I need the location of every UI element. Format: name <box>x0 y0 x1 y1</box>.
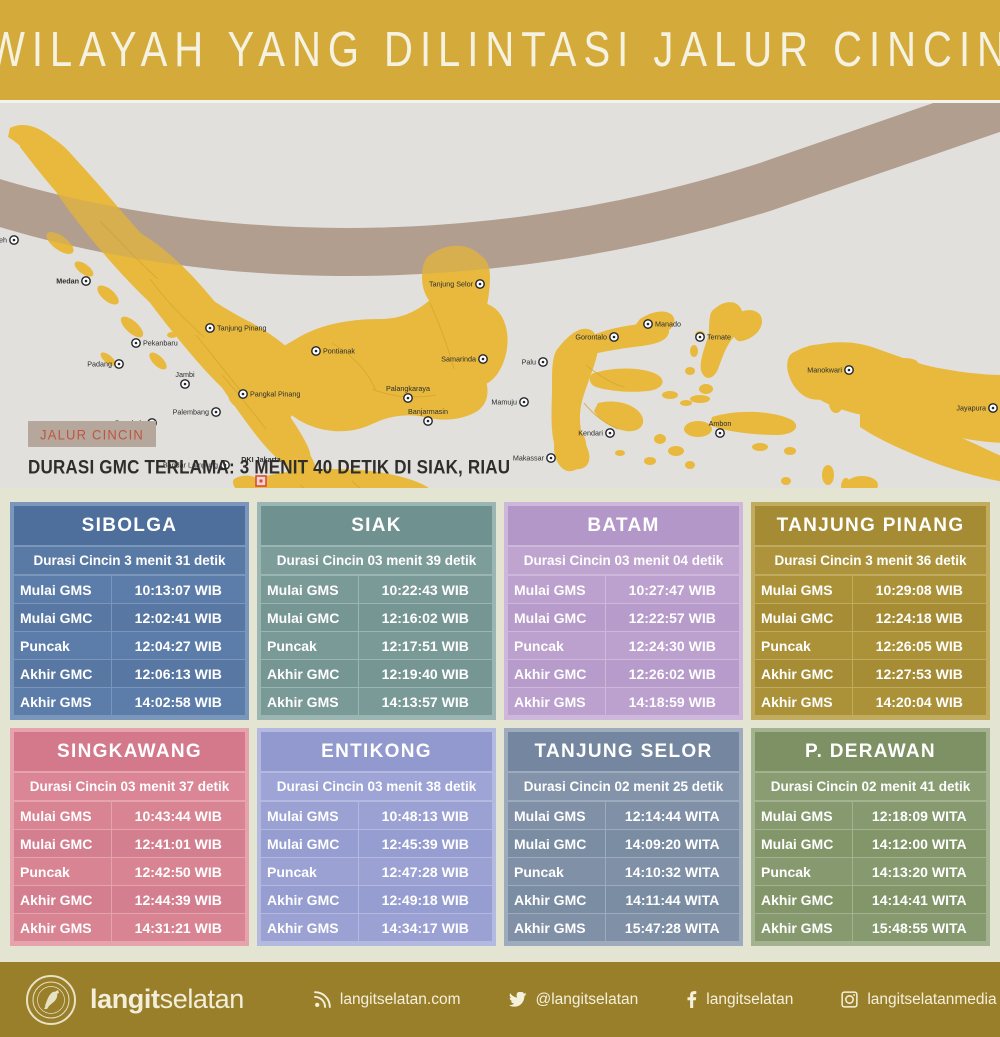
card-row-bottom: SINGKAWANGDurasi Cincin 03 menit 37 deti… <box>10 728 990 946</box>
page-title: WILAYAH YANG DILINTASI JALUR CINCIN <box>0 23 1000 78</box>
card-times-table: Mulai GMS12:18:09 WITAMulai GMC14:12:00 … <box>755 802 986 942</box>
card-title: TANJUNG PINANG <box>755 506 986 545</box>
table-row: Akhir GMC14:11:44 WITA <box>508 886 739 914</box>
row-label: Mulai GMC <box>755 830 852 858</box>
table-row: Akhir GMC12:49:18 WIB <box>261 886 492 914</box>
time-card[interactable]: P. DERAWANDurasi Cincin 02 menit 41 deti… <box>751 728 990 946</box>
city-label: Palangkaraya <box>386 384 430 393</box>
table-row: Mulai GMC12:24:18 WIB <box>755 604 986 632</box>
card-duration: Durasi Cincin 03 menit 37 detik <box>14 773 245 800</box>
table-row: Akhir GMC12:27:53 WIB <box>755 660 986 688</box>
row-value: 12:18:09 WITA <box>852 802 986 830</box>
row-label: Akhir GMS <box>755 688 852 716</box>
page-header: WILAYAH YANG DILINTASI JALUR CINCIN <box>0 0 1000 100</box>
city-label: Pangkal Pinang <box>250 390 300 399</box>
city-marker: Mamuju <box>491 398 528 407</box>
city-marker: Jayapura <box>956 404 997 413</box>
city-marker: Padang <box>87 360 123 369</box>
card-times-table: Mulai GMS10:27:47 WIBMulai GMC12:22:57 W… <box>508 576 739 716</box>
city-label: Medan <box>56 277 79 286</box>
card-duration: Durasi Cincin 02 menit 25 detik <box>508 773 739 800</box>
row-value: 10:22:43 WIB <box>358 576 492 604</box>
row-label: Puncak <box>261 858 358 886</box>
row-value: 12:41:01 WIB <box>111 830 245 858</box>
card-title: SIBOLGA <box>14 506 245 545</box>
card-title: SIAK <box>261 506 492 545</box>
table-row: Akhir GMC12:26:02 WIB <box>508 660 739 688</box>
eclipse-band-overlay <box>0 103 1000 276</box>
table-row: Puncak12:17:51 WIB <box>261 632 492 660</box>
row-label: Mulai GMC <box>14 604 111 632</box>
table-row: Akhir GMS14:34:17 WIB <box>261 914 492 942</box>
row-label: Mulai GMC <box>261 830 358 858</box>
city-label: Samarinda <box>441 355 476 364</box>
row-label: Puncak <box>755 632 852 660</box>
row-label: Akhir GMS <box>261 914 358 942</box>
row-value: 12:44:39 WIB <box>111 886 245 914</box>
brand-name-light: selatan <box>160 984 244 1014</box>
row-label: Akhir GMS <box>508 914 605 942</box>
table-row: Mulai GMC12:16:02 WIB <box>261 604 492 632</box>
row-label: Puncak <box>14 858 111 886</box>
row-label: Mulai GMC <box>261 604 358 632</box>
table-row: Mulai GMC12:45:39 WIB <box>261 830 492 858</box>
time-card[interactable]: BATAMDurasi Cincin 03 menit 04 detikMula… <box>504 502 743 720</box>
card-duration: Durasi Cincin 02 menit 41 detik <box>755 773 986 800</box>
city-label: Gorontalo <box>575 333 607 342</box>
row-value: 15:47:28 WITA <box>605 914 739 942</box>
city-marker: Banda Aceh <box>0 236 18 245</box>
row-value: 14:18:59 WIB <box>605 688 739 716</box>
card-duration: Durasi Cincin 3 menit 36 detik <box>755 547 986 574</box>
city-marker: Pontianak <box>312 347 356 356</box>
table-row: Mulai GMC12:41:01 WIB <box>14 830 245 858</box>
card-title: TANJUNG SELOR <box>508 732 739 771</box>
row-value: 12:02:41 WIB <box>111 604 245 632</box>
card-times-table: Mulai GMS10:29:08 WIBMulai GMC12:24:18 W… <box>755 576 986 716</box>
table-row: Puncak12:47:28 WIB <box>261 858 492 886</box>
city-marker: Ternate <box>696 333 731 342</box>
card-times-table: Mulai GMS10:48:13 WIBMulai GMC12:45:39 W… <box>261 802 492 942</box>
card-times-table: Mulai GMS12:14:44 WITAMulai GMC14:09:20 … <box>508 802 739 942</box>
table-row: Mulai GMC12:02:41 WIB <box>14 604 245 632</box>
card-title: ENTIKONG <box>261 732 492 771</box>
row-value: 12:19:40 WIB <box>358 660 492 688</box>
table-row: Akhir GMS14:20:04 WIB <box>755 688 986 716</box>
row-value: 12:22:57 WIB <box>605 604 739 632</box>
row-value: 12:49:18 WIB <box>358 886 492 914</box>
row-label: Puncak <box>508 858 605 886</box>
card-title: SINGKAWANG <box>14 732 245 771</box>
row-label: Akhir GMC <box>14 660 111 688</box>
card-times-table: Mulai GMS10:13:07 WIBMulai GMC12:02:41 W… <box>14 576 245 716</box>
city-label: Palembang <box>173 408 209 417</box>
row-label: Puncak <box>14 632 111 660</box>
row-label: Akhir GMS <box>261 688 358 716</box>
row-label: Puncak <box>508 632 605 660</box>
row-value: 12:06:13 WIB <box>111 660 245 688</box>
table-row: Akhir GMC12:44:39 WIB <box>14 886 245 914</box>
card-duration: Durasi Cincin 03 menit 39 detik <box>261 547 492 574</box>
row-label: Akhir GMC <box>261 886 358 914</box>
row-value: 12:26:02 WIB <box>605 660 739 688</box>
city-marker: Pekanbaru <box>132 339 178 348</box>
table-row: Akhir GMS14:18:59 WIB <box>508 688 739 716</box>
table-row: Puncak12:04:27 WIB <box>14 632 245 660</box>
table-row: Mulai GMC14:09:20 WITA <box>508 830 739 858</box>
row-value: 10:27:47 WIB <box>605 576 739 604</box>
row-label: Akhir GMC <box>14 886 111 914</box>
row-value: 14:13:20 WITA <box>852 858 986 886</box>
row-label: Mulai GMC <box>755 604 852 632</box>
row-value: 10:29:08 WIB <box>852 576 986 604</box>
city-marker: Samarinda <box>441 355 487 364</box>
row-value: 10:43:44 WIB <box>111 802 245 830</box>
row-value: 10:13:07 WIB <box>111 576 245 604</box>
table-row: Mulai GMS10:27:47 WIB <box>508 576 739 604</box>
row-value: 14:20:04 WIB <box>852 688 986 716</box>
row-label: Mulai GMC <box>508 604 605 632</box>
row-value: 12:14:44 WITA <box>605 802 739 830</box>
map-caption: DURASI GMC TERLAMA: 3 MENIT 40 DETIK DI … <box>28 457 1000 479</box>
row-label: Akhir GMS <box>508 688 605 716</box>
table-row: Puncak12:26:05 WIB <box>755 632 986 660</box>
row-value: 12:47:28 WIB <box>358 858 492 886</box>
row-label: Akhir GMC <box>261 660 358 688</box>
row-label: Mulai GMS <box>755 576 852 604</box>
city-label: Jambi <box>175 370 195 379</box>
row-label: Mulai GMS <box>755 802 852 830</box>
city-marker: Medan <box>56 277 90 286</box>
row-value: 14:12:00 WITA <box>852 830 986 858</box>
city-marker: Gorontalo <box>575 333 618 342</box>
row-label: Puncak <box>755 858 852 886</box>
table-row: Mulai GMS12:18:09 WITA <box>755 802 986 830</box>
map-section: Banda AcehMedanPekanbaruPadangJambiPalem… <box>0 100 1000 488</box>
row-label: Akhir GMS <box>14 914 111 942</box>
row-value: 12:42:50 WIB <box>111 858 245 886</box>
time-card[interactable]: SIAKDurasi Cincin 03 menit 39 detikMulai… <box>257 502 496 720</box>
row-value: 14:11:44 WITA <box>605 886 739 914</box>
table-row: Puncak12:42:50 WIB <box>14 858 245 886</box>
table-row: Puncak14:10:32 WITA <box>508 858 739 886</box>
card-duration: Durasi Cincin 03 menit 38 detik <box>261 773 492 800</box>
time-card[interactable]: SIBOLGADurasi Cincin 3 menit 31 detikMul… <box>10 502 249 720</box>
city-label: Tanjung Selor <box>429 280 474 289</box>
city-label: Banjarmasin <box>408 407 448 416</box>
city-marker: Palembang <box>173 408 221 417</box>
row-value: 12:04:27 WIB <box>111 632 245 660</box>
city-label: Pontianak <box>323 347 355 356</box>
table-row: Akhir GMS15:48:55 WITA <box>755 914 986 942</box>
table-row: Akhir GMC12:19:40 WIB <box>261 660 492 688</box>
row-value: 12:27:53 WIB <box>852 660 986 688</box>
row-value: 10:48:13 WIB <box>358 802 492 830</box>
row-label: Mulai GMS <box>261 576 358 604</box>
row-value: 14:13:57 WIB <box>358 688 492 716</box>
table-row: Mulai GMC12:22:57 WIB <box>508 604 739 632</box>
time-card[interactable]: SINGKAWANGDurasi Cincin 03 menit 37 deti… <box>10 728 249 946</box>
card-title: P. DERAWAN <box>755 732 986 771</box>
row-label: Mulai GMS <box>508 576 605 604</box>
row-value: 14:09:20 WITA <box>605 830 739 858</box>
table-row: Mulai GMS10:29:08 WIB <box>755 576 986 604</box>
legend-jalur-cincin: JALUR CINCIN <box>28 421 156 447</box>
row-label: Akhir GMC <box>755 886 852 914</box>
card-row-top: SIBOLGADurasi Cincin 3 menit 31 detikMul… <box>10 502 990 720</box>
map-footer: JALUR CINCIN DURASI GMC TERLAMA: 3 MENIT… <box>0 422 1000 488</box>
table-row: Akhir GMS14:13:57 WIB <box>261 688 492 716</box>
table-row: Akhir GMS14:02:58 WIB <box>14 688 245 716</box>
card-duration: Durasi Cincin 3 menit 31 detik <box>14 547 245 574</box>
row-value: 12:17:51 WIB <box>358 632 492 660</box>
card-times-table: Mulai GMS10:43:44 WIBMulai GMC12:41:01 W… <box>14 802 245 942</box>
city-label: Tanjung Pinang <box>217 324 267 333</box>
city-marker: Manokwari <box>807 366 853 375</box>
city-label: Mamuju <box>491 398 517 407</box>
row-label: Akhir GMC <box>508 886 605 914</box>
time-card[interactable]: TANJUNG PINANGDurasi Cincin 3 menit 36 d… <box>751 502 990 720</box>
row-label: Akhir GMS <box>755 914 852 942</box>
table-row: Mulai GMS10:48:13 WIB <box>261 802 492 830</box>
row-value: 14:14:41 WITA <box>852 886 986 914</box>
row-label: Akhir GMS <box>14 688 111 716</box>
table-row: Akhir GMS14:31:21 WIB <box>14 914 245 942</box>
row-label: Mulai GMS <box>14 576 111 604</box>
time-card[interactable]: ENTIKONGDurasi Cincin 03 menit 38 detikM… <box>257 728 496 946</box>
row-label: Mulai GMS <box>508 802 605 830</box>
time-card[interactable]: TANJUNG SELORDurasi Cincin 02 menit 25 d… <box>504 728 743 946</box>
city-label: Palu <box>522 358 536 367</box>
row-label: Puncak <box>261 632 358 660</box>
row-value: 12:24:30 WIB <box>605 632 739 660</box>
table-row: Mulai GMC14:12:00 WITA <box>755 830 986 858</box>
card-times-table: Mulai GMS10:22:43 WIBMulai GMC12:16:02 W… <box>261 576 492 716</box>
row-value: 12:24:18 WIB <box>852 604 986 632</box>
brand-name-bold: langit <box>90 984 160 1014</box>
city-times-section: SIBOLGADurasi Cincin 3 menit 31 detikMul… <box>0 488 1000 962</box>
table-row: Mulai GMS10:22:43 WIB <box>261 576 492 604</box>
city-marker: Palu <box>522 358 548 367</box>
row-value: 14:02:58 WIB <box>111 688 245 716</box>
table-row: Puncak12:24:30 WIB <box>508 632 739 660</box>
table-row: Akhir GMC14:14:41 WITA <box>755 886 986 914</box>
row-value: 14:34:17 WIB <box>358 914 492 942</box>
row-value: 12:45:39 WIB <box>358 830 492 858</box>
table-row: Mulai GMS12:14:44 WITA <box>508 802 739 830</box>
table-row: Akhir GMC12:06:13 WIB <box>14 660 245 688</box>
infographic-page: WILAYAH YANG DILINTASI JALUR CINCIN <box>0 0 1000 1000</box>
city-label: Pekanbaru <box>143 339 178 348</box>
row-value: 14:31:21 WIB <box>111 914 245 942</box>
city-label: Manado <box>655 320 681 329</box>
city-marker: Manado <box>644 320 681 329</box>
row-label: Mulai GMS <box>261 802 358 830</box>
table-row: Mulai GMS10:13:07 WIB <box>14 576 245 604</box>
city-label: Manokwari <box>807 366 842 375</box>
row-label: Akhir GMC <box>508 660 605 688</box>
city-marker: Jambi <box>175 370 195 388</box>
row-value: 12:26:05 WIB <box>852 632 986 660</box>
city-label: Padang <box>87 360 112 369</box>
row-label: Mulai GMC <box>14 830 111 858</box>
card-duration: Durasi Cincin 03 menit 04 detik <box>508 547 739 574</box>
table-row: Mulai GMS10:43:44 WIB <box>14 802 245 830</box>
table-row: Akhir GMS15:47:28 WITA <box>508 914 739 942</box>
city-label: Ternate <box>707 333 731 342</box>
row-value: 14:10:32 WITA <box>605 858 739 886</box>
row-label: Mulai GMC <box>508 830 605 858</box>
city-label: Banda Aceh <box>0 236 7 245</box>
row-value: 12:16:02 WIB <box>358 604 492 632</box>
row-label: Akhir GMC <box>755 660 852 688</box>
row-value: 15:48:55 WITA <box>852 914 986 942</box>
table-row: Puncak14:13:20 WITA <box>755 858 986 886</box>
row-label: Mulai GMS <box>14 802 111 830</box>
card-title: BATAM <box>508 506 739 545</box>
city-label: Jayapura <box>956 404 986 413</box>
